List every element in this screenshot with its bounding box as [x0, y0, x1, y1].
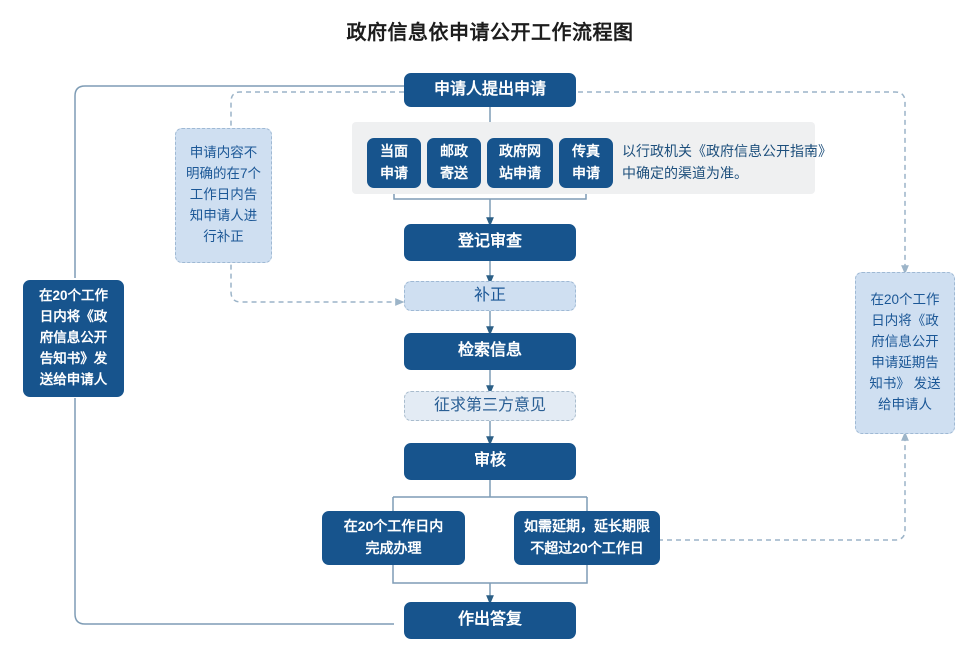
flowchart-canvas: 政府信息依申请公开工作流程图	[0, 0, 980, 659]
node-third-party-opinion[interactable]: 征求第三方意见	[404, 391, 576, 421]
node-issue-reply[interactable]: 作出答复	[404, 602, 576, 639]
node-review[interactable]: 审核	[404, 443, 576, 480]
node-search-information[interactable]: 检索信息	[404, 333, 576, 370]
node-extension-allowed[interactable]: 如需延期，延长期限 不超过20个工作日	[514, 511, 660, 565]
node-channel-postal-mail[interactable]: 邮政 寄送	[427, 138, 481, 188]
channel-note-text: 以行政机关《政府信息公开指南》 中确定的渠道为准。	[622, 138, 832, 188]
node-channel-gov-website[interactable]: 政府网 站申请	[487, 138, 553, 188]
node-channel-fax[interactable]: 传真 申请	[559, 138, 613, 188]
node-complete-within-20-days[interactable]: 在20个工作日内 完成办理	[322, 511, 465, 565]
node-apply[interactable]: 申请人提出申请	[404, 73, 576, 107]
note-public-disclosure-notice[interactable]: 在20个工作 日内将《政 府信息公开 告知书》发 送给申请人	[23, 280, 124, 397]
page-title: 政府信息依申请公开工作流程图	[0, 16, 980, 45]
node-supplement[interactable]: 补正	[404, 281, 576, 311]
node-channel-in-person[interactable]: 当面 申请	[367, 138, 421, 188]
conn-branch-merge	[393, 565, 587, 583]
note-extension-notice[interactable]: 在20个工作 日内将《政 府信息公开 申请延期告 知书》 发送 给申请人	[855, 272, 955, 434]
node-register-review[interactable]: 登记审查	[404, 224, 576, 261]
note-unclear-content-supplement[interactable]: 申请内容不 明确的在7个 工作日内告 知申请人进 行补正	[175, 128, 272, 263]
conn-dashed-extend-to-rightnote	[658, 436, 905, 540]
